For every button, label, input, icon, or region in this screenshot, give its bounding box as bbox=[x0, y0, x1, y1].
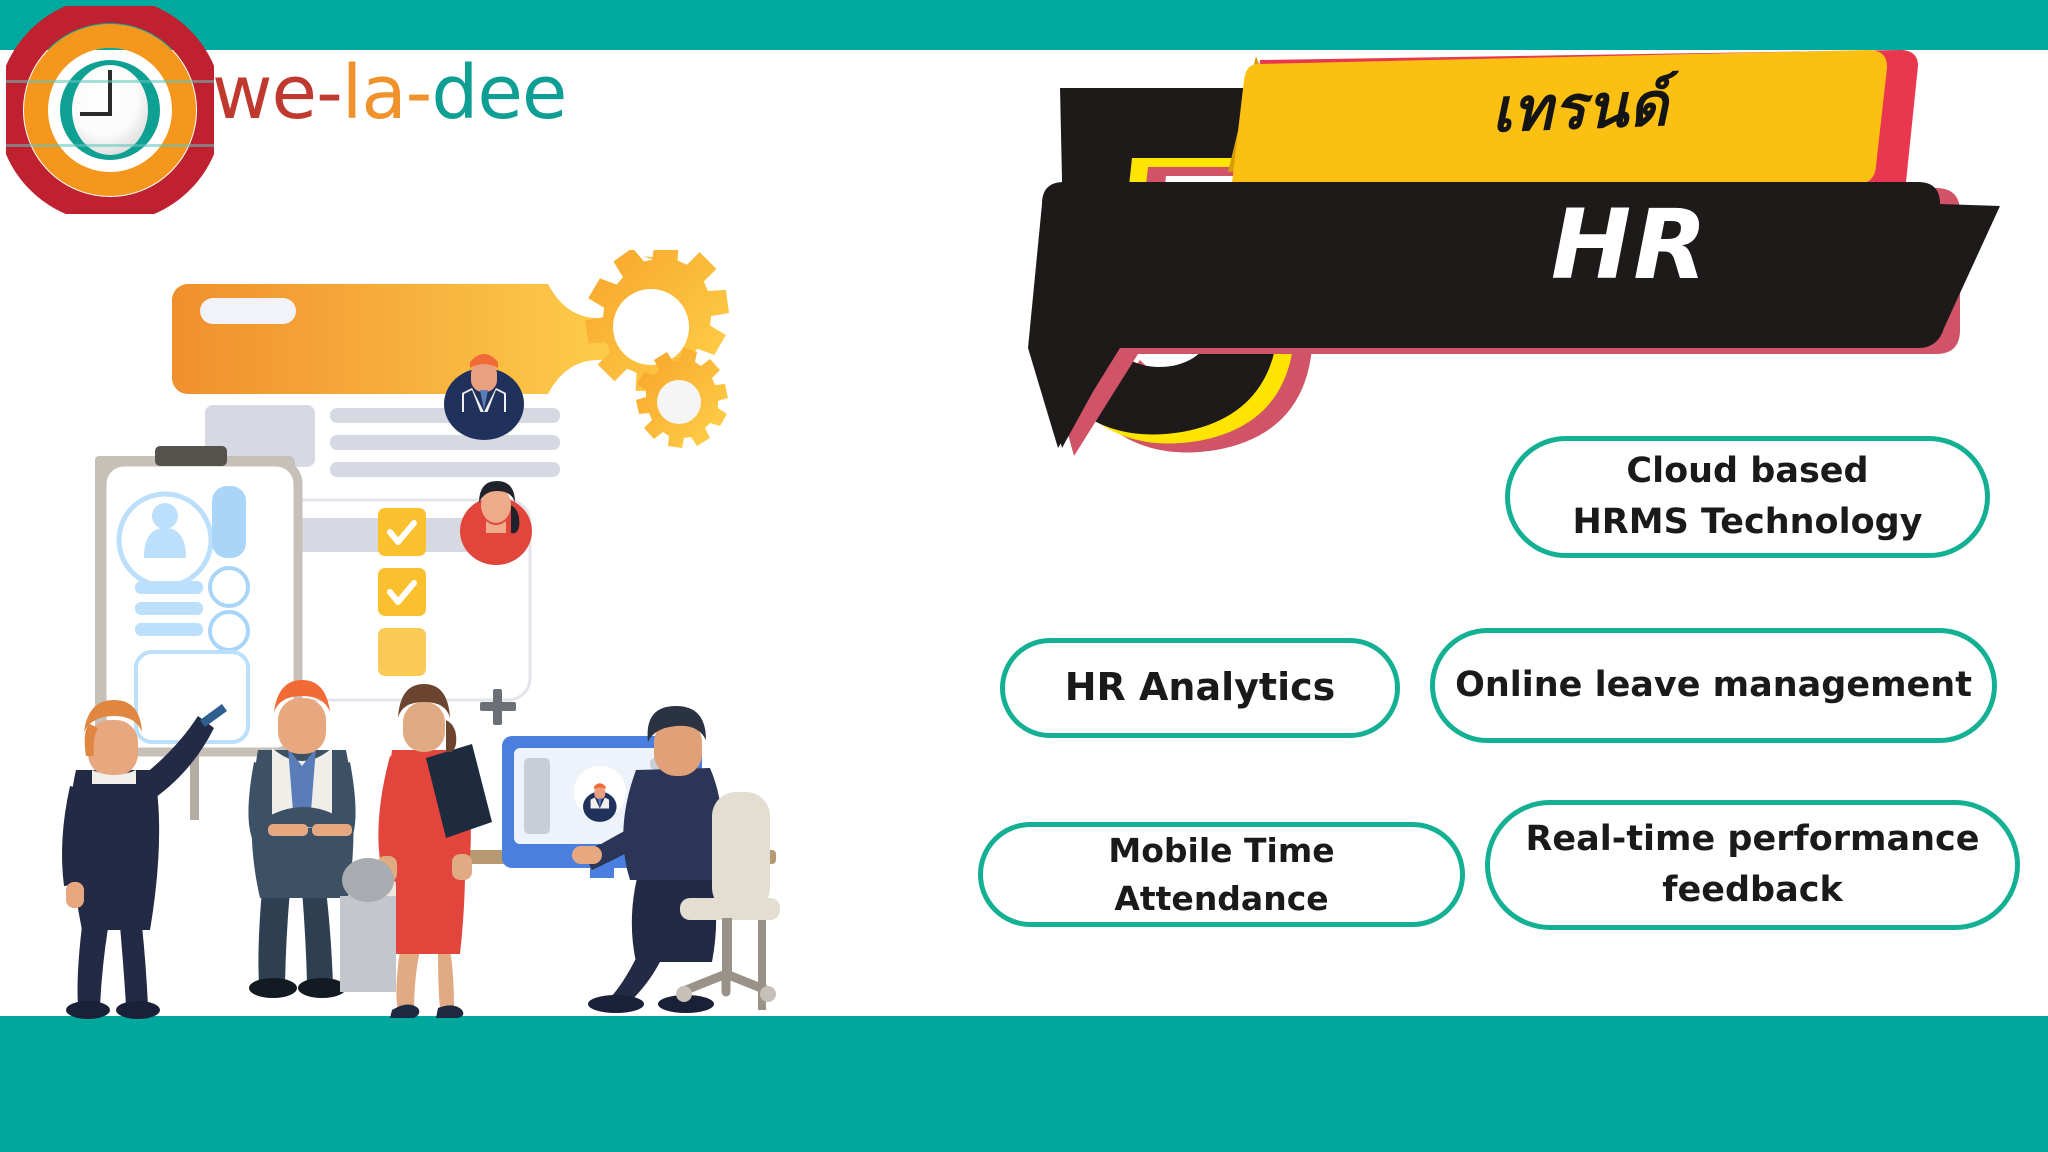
brand-part-we: we bbox=[212, 56, 316, 130]
brand-part-la: la bbox=[342, 56, 406, 130]
checkbox-checked-1 bbox=[378, 508, 426, 556]
feature-pill-cloud[interactable]: Cloud based HRMS Technology bbox=[1505, 436, 1990, 558]
feature-pill-leave-line1: Online leave management bbox=[1455, 665, 1972, 705]
brand-wordmark: we - la - dee bbox=[212, 48, 566, 138]
feature-pill-leave[interactable]: Online leave management bbox=[1430, 628, 1997, 743]
feature-pill-mobile-line1: Mobile Time Attendance bbox=[1108, 831, 1334, 918]
poster-canvas: we - la - dee bbox=[0, 0, 2048, 1152]
feature-pill-cloud-line2: HRMS Technology bbox=[1573, 497, 1923, 548]
feature-pill-cloud-line1: Cloud based bbox=[1626, 451, 1868, 491]
avatar-female-red bbox=[460, 481, 532, 565]
brand-part-dash2: - bbox=[406, 56, 432, 130]
feature-pill-analytics-line1: HR Analytics bbox=[1065, 665, 1336, 709]
headline-banner-graphic bbox=[1000, 50, 2048, 490]
feature-pill-feedback[interactable]: Real-time performance feedback bbox=[1485, 800, 2020, 930]
podium-stand bbox=[340, 858, 396, 992]
checkbox-group bbox=[378, 508, 426, 676]
checkbox-empty-3 bbox=[378, 628, 426, 676]
brand-part-dash1: - bbox=[316, 56, 342, 130]
feature-pill-feedback-line1: Real-time performance bbox=[1525, 819, 1979, 859]
clock-rings-logo bbox=[6, 6, 214, 214]
brand-part-dee: dee bbox=[431, 56, 566, 130]
feature-pill-feedback-line2: feedback bbox=[1525, 865, 1979, 916]
checkbox-checked-2 bbox=[378, 568, 426, 616]
feature-pill-mobile[interactable]: Mobile Time Attendance bbox=[978, 822, 1465, 927]
ribbon-yellow bbox=[1232, 50, 1887, 200]
top-teal-band bbox=[0, 0, 2048, 50]
bottom-teal-band bbox=[0, 1016, 2048, 1152]
feature-pill-analytics[interactable]: HR Analytics bbox=[1000, 638, 1400, 738]
hr-team-workflow-illustration bbox=[40, 250, 940, 1020]
